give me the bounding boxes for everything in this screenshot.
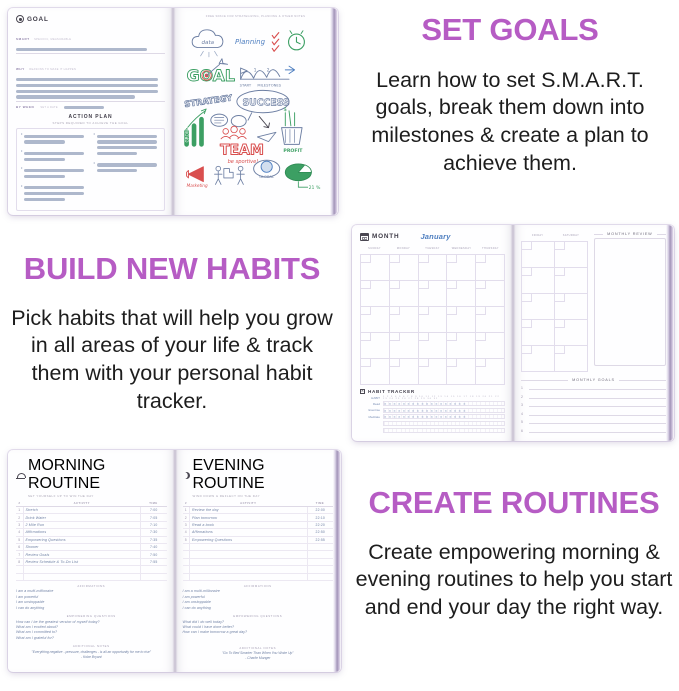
weekday-thursday: THURSDAY bbox=[476, 245, 505, 251]
sunrise-icon bbox=[16, 473, 25, 478]
calendar-day-cell[interactable] bbox=[361, 307, 390, 333]
weekend-header-row: FRIDAY SATURDAY bbox=[521, 232, 588, 238]
col-milestone: MILESTONE bbox=[24, 214, 78, 216]
goal-field-bywhen: BY WHEN SET A DATE bbox=[16, 105, 165, 109]
morning-routine-table: # ACTIVITY TIME 1Stretch7:00 2Drink Wate… bbox=[16, 501, 167, 581]
svg-text:TEAM: TEAM bbox=[220, 143, 264, 159]
calendar-day-cell[interactable] bbox=[476, 359, 505, 385]
table-row: 2Plan tomorrow22:10 bbox=[183, 514, 334, 521]
affirmations-title: AFFIRMATIONS bbox=[16, 584, 167, 588]
svg-text:Planning: Planning bbox=[235, 38, 266, 46]
svg-text:START: START bbox=[240, 84, 252, 88]
monthly-goals-list: 1 2 3 4 5 6 bbox=[521, 385, 666, 433]
action-plan-item: • bbox=[21, 184, 88, 204]
habit-cells[interactable] bbox=[383, 428, 505, 433]
affirmations-title: AFFIRMATIONS bbox=[183, 584, 334, 588]
calendar-day-cell[interactable] bbox=[419, 255, 448, 281]
weekend-grid bbox=[521, 241, 588, 372]
goal-line[interactable]: 4 bbox=[521, 411, 666, 416]
feature-description: Create empowering morning & evening rout… bbox=[349, 539, 679, 623]
habit-tracker-title: ✕ HABIT TRACKER bbox=[360, 389, 505, 394]
table-row bbox=[183, 566, 334, 573]
bullet-icon: • bbox=[21, 132, 22, 136]
feature-description: Learn how to set S.M.A.R.T. goals, break… bbox=[343, 67, 677, 179]
goal-line[interactable]: 5 bbox=[521, 419, 666, 424]
action-plan-section: ACTION PLAN STEPS REQUIRED TO ACHIEVE TH… bbox=[16, 114, 165, 210]
svg-text:21 %: 21 % bbox=[309, 185, 321, 191]
habit-cells[interactable] bbox=[383, 401, 505, 406]
calendar-day-cell[interactable] bbox=[476, 333, 505, 359]
calendar-icon bbox=[360, 233, 369, 241]
weekday-monday: MONDAY bbox=[389, 245, 418, 251]
habit-row: Exercise bbox=[360, 408, 505, 413]
svg-text:data: data bbox=[201, 40, 214, 46]
goal-page-right-doodles: FREE SPACE FOR STRATEGIZING, PLANNING & … bbox=[173, 8, 338, 215]
calendar-day-cell[interactable] bbox=[447, 255, 476, 281]
table-row: 4Affirmations7:30 bbox=[16, 529, 167, 536]
goal-page-title: GOAL bbox=[16, 15, 165, 23]
calendar-day-cell[interactable] bbox=[522, 294, 555, 320]
morning-routine-title: MORNING ROUTINE bbox=[16, 457, 167, 493]
feature-build-new-habits: BUILD NEW HABITS Pick habits that will h… bbox=[2, 253, 342, 416]
action-plan-column-left: • • • • bbox=[21, 132, 88, 206]
action-plan-item: • bbox=[94, 161, 161, 175]
calendar-day-cell[interactable] bbox=[361, 359, 390, 385]
table-row bbox=[183, 551, 334, 558]
goal-planner-spread-image: GOAL SMART SPECIFIC, MEASURABLE WHY REAS… bbox=[8, 8, 338, 215]
monthly-goals-section: MONTHLY GOALS 1 2 3 4 5 6 bbox=[521, 378, 666, 433]
goal-line[interactable]: 6 bbox=[521, 428, 666, 433]
action-plan-item: • bbox=[21, 132, 88, 146]
affirmations-list: I am a multi-millionaire I am powerful I… bbox=[183, 589, 334, 611]
goal-line[interactable]: 3 bbox=[521, 402, 666, 407]
moon-icon bbox=[183, 472, 190, 479]
calendar-day-cell[interactable] bbox=[419, 359, 448, 385]
habit-cells[interactable] bbox=[383, 408, 505, 413]
col-reward: REWARD bbox=[78, 214, 120, 216]
col-check: ✓ bbox=[150, 214, 165, 216]
table-row bbox=[183, 573, 334, 580]
goal-line[interactable]: 1 bbox=[521, 385, 666, 390]
routine-planner-spread-image: MORNING ROUTINE SET YOURSELF UP TO WIN T… bbox=[8, 450, 341, 672]
svg-text:1: 1 bbox=[254, 68, 257, 74]
calendar-day-cell[interactable] bbox=[390, 359, 419, 385]
calendar-day-cell[interactable] bbox=[555, 268, 588, 294]
monthly-review-box[interactable] bbox=[594, 238, 666, 366]
calendar-day-cell[interactable] bbox=[419, 333, 448, 359]
weekday-sunday: SUNDAY bbox=[360, 245, 389, 251]
calendar-day-cell[interactable] bbox=[522, 268, 555, 294]
calendar-day-cell[interactable] bbox=[361, 255, 390, 281]
action-plan-item: • bbox=[94, 132, 161, 158]
feature-collage: GOAL SMART SPECIFIC, MEASURABLE WHY REAS… bbox=[0, 0, 679, 691]
weekday-header-row: SUNDAY MONDAY TUESDAY WEDNESDAY THURSDAY bbox=[360, 245, 505, 251]
weekday-wednesday: WEDNESDAY bbox=[447, 245, 476, 251]
note-author: - Charlie Munger bbox=[183, 656, 334, 661]
table-row: 1Stretch7:00 bbox=[16, 507, 167, 514]
notes-title: ADDITIONAL NOTES bbox=[183, 646, 334, 650]
weekday-tuesday: TUESDAY bbox=[418, 245, 447, 251]
table-row bbox=[16, 573, 167, 580]
table-row: 5Empowering Questions7:35 bbox=[16, 536, 167, 543]
svg-text:$: $ bbox=[283, 107, 287, 113]
table-row: 3Read a book22:20 bbox=[183, 521, 334, 528]
affirmations-list: I am a multi-millionaire I am powerful I… bbox=[16, 589, 167, 611]
habit-row bbox=[360, 428, 505, 433]
calendar-day-cell[interactable] bbox=[390, 307, 419, 333]
action-plan-column-right: • • bbox=[94, 132, 161, 206]
target-icon bbox=[16, 15, 24, 23]
calendar-day-cell[interactable] bbox=[447, 333, 476, 359]
divider bbox=[16, 53, 165, 54]
morning-routine-page: MORNING ROUTINE SET YOURSELF UP TO WIN T… bbox=[8, 450, 175, 672]
col-number: # bbox=[16, 214, 24, 216]
svg-text:Marketing: Marketing bbox=[187, 183, 208, 188]
feature-description: Pick habits that will help you grow in a… bbox=[2, 305, 342, 417]
monthly-review-title: MONTHLY REVIEW bbox=[594, 232, 666, 236]
table-row: 8Review Schedule & To-Do List7:55 bbox=[16, 558, 167, 565]
questions-title: EMPOWERING QUESTIONS bbox=[183, 614, 334, 618]
svg-text:GLOBAL: GLOBAL bbox=[259, 175, 275, 179]
feature-create-routines: CREATE ROUTINES Create empowering mornin… bbox=[349, 487, 679, 622]
evening-routine-page: EVENING ROUTINE WIND DOWN & REFLECT ON T… bbox=[175, 450, 342, 672]
calendar-day-cell[interactable] bbox=[447, 359, 476, 385]
month-page-right: FRIDAY SATURDAY MONTHLY REVIEW bbox=[513, 225, 674, 441]
x-box-icon: ✕ bbox=[360, 389, 365, 394]
goal-bywhen-value bbox=[64, 106, 104, 109]
action-plan-item: • bbox=[21, 149, 88, 163]
calendar-day-cell[interactable] bbox=[555, 346, 588, 372]
doodle-canvas: data Planning GOAL bbox=[181, 21, 330, 197]
calendar-day-cell[interactable] bbox=[555, 242, 588, 268]
month-page-title: MONTH January bbox=[360, 232, 505, 241]
habit-cells[interactable] bbox=[383, 421, 505, 426]
table-row: 1Review the day22:00 bbox=[183, 507, 334, 514]
feature-heading: BUILD NEW HABITS bbox=[2, 253, 342, 286]
month-value: January bbox=[420, 232, 450, 241]
feature-heading: SET GOALS bbox=[343, 14, 677, 47]
table-row: 4Affirmations22:50 bbox=[183, 529, 334, 536]
calendar-day-cell[interactable] bbox=[555, 294, 588, 320]
col-date: DATE bbox=[120, 214, 149, 216]
bullet-icon: • bbox=[94, 161, 95, 165]
calendar-day-cell[interactable] bbox=[522, 242, 555, 268]
feature-heading: CREATE ROUTINES bbox=[349, 487, 679, 520]
goal-field-smart: SMART SPECIFIC, MEASURABLE bbox=[16, 27, 165, 54]
habit-cells[interactable] bbox=[383, 414, 505, 419]
bullet-icon: • bbox=[21, 166, 22, 170]
questions-list: What did I do well today? What could I h… bbox=[183, 620, 334, 636]
questions-list: How can I be the greatest version of mys… bbox=[16, 620, 167, 642]
habit-row bbox=[360, 421, 505, 426]
calendar-day-cell[interactable] bbox=[361, 281, 390, 307]
evening-routine-table: # ACTIVITY TIME 1Review the day22:00 2Pl… bbox=[183, 501, 334, 581]
notes-title: ADDITIONAL NOTES bbox=[16, 644, 167, 648]
calendar-day-cell[interactable] bbox=[390, 333, 419, 359]
calendar-day-cell[interactable] bbox=[390, 255, 419, 281]
milestones-table: # MILESTONE REWARD DATE ✓ 1 2 3 4 5 6 bbox=[16, 214, 165, 216]
svg-text:STRATEGY: STRATEGY bbox=[184, 92, 234, 109]
bullet-icon: • bbox=[21, 149, 22, 153]
calendar-grid bbox=[360, 254, 505, 385]
weekday-friday: FRIDAY bbox=[521, 232, 554, 238]
note-author: - Kobe Bryant bbox=[16, 655, 167, 660]
habit-row: Read bbox=[360, 401, 505, 406]
goal-page-left: GOAL SMART SPECIFIC, MEASURABLE WHY REAS… bbox=[8, 8, 173, 215]
table-row bbox=[16, 566, 167, 573]
goal-line[interactable]: 2 bbox=[521, 394, 666, 399]
svg-text:2: 2 bbox=[267, 68, 270, 74]
table-row bbox=[183, 558, 334, 565]
svg-text:GOAL: GOAL bbox=[187, 66, 235, 85]
goal-field-why: WHY REASONS TO MAKE IT HAPPEN bbox=[16, 57, 165, 102]
bullet-icon: • bbox=[94, 132, 95, 136]
calendar-day-cell[interactable] bbox=[419, 281, 448, 307]
monthly-goals-title: MONTHLY GOALS bbox=[521, 378, 666, 382]
calendar-day-cell[interactable] bbox=[447, 281, 476, 307]
calendar-day-cell[interactable] bbox=[555, 320, 588, 346]
calendar-day-cell[interactable] bbox=[522, 346, 555, 372]
svg-text:be sportive!: be sportive! bbox=[228, 159, 259, 165]
evening-routine-title: EVENING ROUTINE bbox=[183, 457, 334, 493]
bullet-icon: • bbox=[21, 184, 22, 188]
feature-set-goals: SET GOALS Learn how to set S.M.A.R.T. go… bbox=[343, 14, 677, 178]
calendar-day-cell[interactable] bbox=[390, 281, 419, 307]
calendar-day-cell[interactable] bbox=[361, 333, 390, 359]
calendar-day-cell[interactable] bbox=[476, 307, 505, 333]
svg-text:GROWTH: GROWTH bbox=[184, 123, 189, 142]
calendar-day-cell[interactable] bbox=[447, 307, 476, 333]
action-plan-box: • • • • bbox=[16, 128, 165, 210]
goal-smart-value bbox=[16, 48, 147, 51]
calendar-day-cell[interactable] bbox=[419, 307, 448, 333]
action-plan-item: • bbox=[21, 166, 88, 180]
table-row bbox=[183, 543, 334, 550]
table-row: 6Shower7:40 bbox=[16, 543, 167, 550]
questions-title: EMPOWERING QUESTIONS bbox=[16, 614, 167, 618]
svg-text:PROFIT: PROFIT bbox=[283, 148, 303, 154]
month-page-left: MONTH January SUNDAY MONDAY TUESDAY WEDN… bbox=[352, 225, 513, 441]
habit-row: Meditate bbox=[360, 414, 505, 419]
table-row: 2Drink Water7:05 bbox=[16, 514, 167, 521]
habit-day-numbers-row: HABIT 1 2 3 4 5 6 7 8 9 10 11 12 13 14 1… bbox=[360, 396, 505, 400]
month-planner-spread-image: MONTH January SUNDAY MONDAY TUESDAY WEDN… bbox=[352, 225, 674, 441]
calendar-day-cell[interactable] bbox=[476, 255, 505, 281]
table-row: 32 Mile Run7:10 bbox=[16, 521, 167, 528]
table-row: 5Empowering Questions22:55 bbox=[183, 536, 334, 543]
calendar-day-cell[interactable] bbox=[522, 320, 555, 346]
weekday-saturday: SATURDAY bbox=[554, 232, 587, 238]
milestones-header-row: # MILESTONE REWARD DATE ✓ bbox=[16, 214, 165, 216]
svg-text:MILESTONES: MILESTONES bbox=[257, 84, 281, 88]
table-row: 7Review Goals7:50 bbox=[16, 551, 167, 558]
calendar-day-cell[interactable] bbox=[476, 281, 505, 307]
